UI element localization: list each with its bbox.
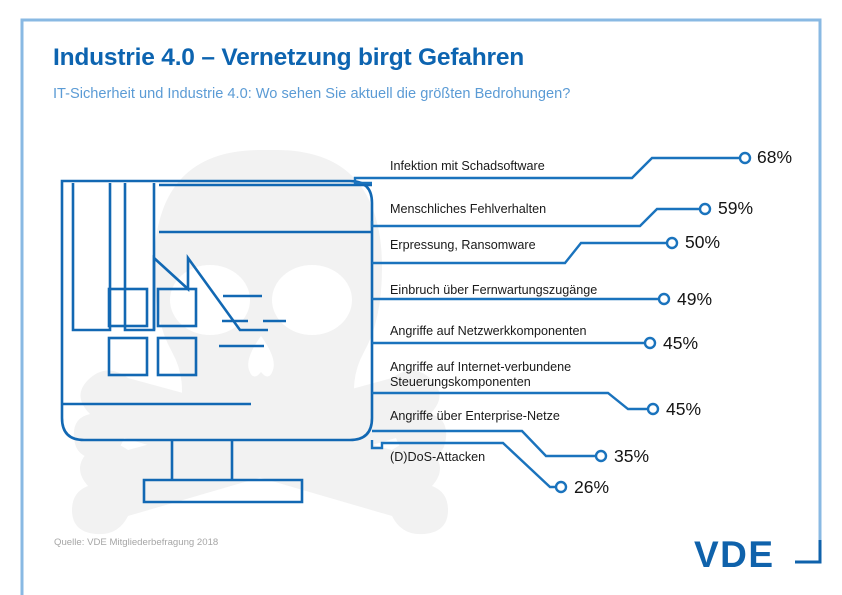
item-value-5: 45% — [663, 333, 698, 354]
vde-logo: VDE — [694, 534, 775, 576]
page-subtitle: IT-Sicherheit und Industrie 4.0: Wo sehe… — [53, 86, 570, 102]
page-title: Industrie 4.0 – Vernetzung birgt Gefahre… — [53, 44, 524, 72]
item-label-1: Infektion mit Schadsoftware — [390, 159, 545, 174]
item-label-3: Erpressung, Ransomware — [390, 238, 536, 253]
item-value-7: 35% — [614, 446, 649, 467]
source-note: Quelle: VDE Mitgliederbefragung 2018 — [54, 537, 218, 548]
item-label-5: Angriffe auf Netzwerkkomponenten — [390, 324, 586, 339]
item-value-2: 59% — [718, 198, 753, 219]
item-label-8: (D)DoS-Attacken — [390, 450, 485, 465]
item-value-4: 49% — [677, 289, 712, 310]
item-label-6-line-2: Steuerungskomponenten — [390, 375, 531, 389]
item-value-8: 26% — [574, 477, 609, 498]
item-label-4: Einbruch über Fernwartungszugänge — [390, 283, 597, 298]
infographic-canvas: Industrie 4.0 – Vernetzung birgt Gefahre… — [0, 0, 842, 595]
item-label-6: Angriffe auf Internet-verbundene Steueru… — [390, 360, 571, 389]
item-label-7: Angriffe über Enterprise-Netze — [390, 409, 560, 424]
item-label-2: Menschliches Fehlverhalten — [390, 202, 546, 217]
item-label-6-line-1: Angriffe auf Internet-verbundene — [390, 360, 571, 374]
item-value-1: 68% — [757, 147, 792, 168]
item-value-6: 45% — [666, 399, 701, 420]
item-value-3: 50% — [685, 232, 720, 253]
